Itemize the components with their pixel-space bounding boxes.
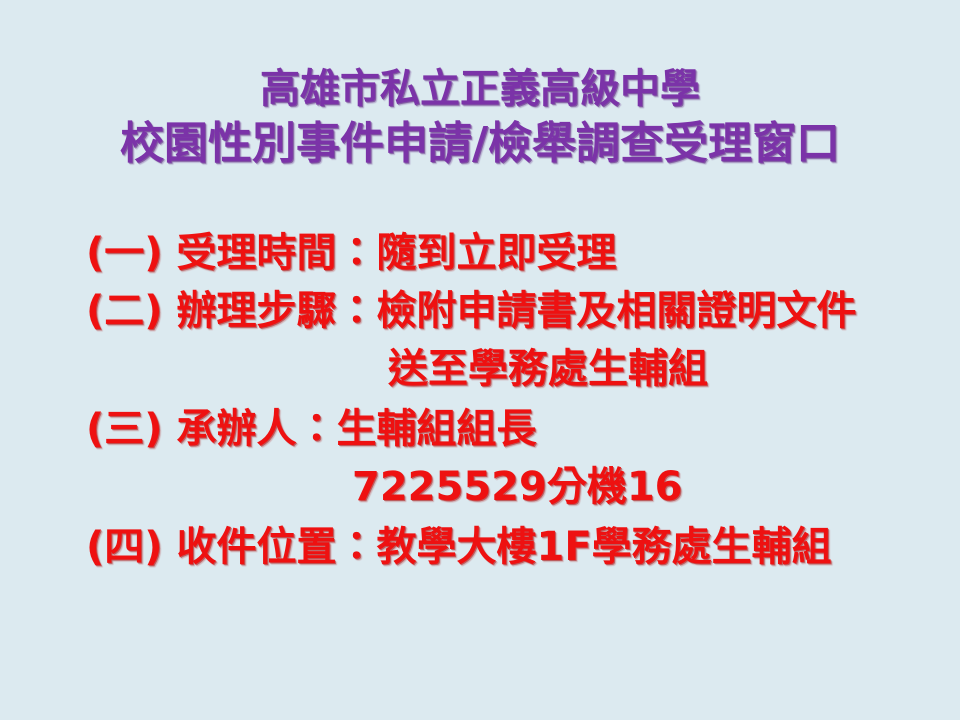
list-item-3-continuation-phone: 7225529分機16	[0, 458, 960, 516]
list-item-3: (三) 承辦人：生輔組組長	[0, 400, 960, 458]
body-block: (一) 受理時間：隨到立即受理 (二) 辦理步驟：檢附申請書及相關證明文件 送至…	[0, 224, 960, 576]
page-title-line-1: 高雄市私立正義高級中學	[0, 66, 960, 112]
list-item-2-continuation: 送至學務處生輔組	[0, 340, 960, 398]
list-item-1: (一) 受理時間：隨到立即受理	[0, 224, 960, 282]
slide-canvas: 高雄市私立正義高級中學 校園性別事件申請/檢舉調查受理窗口 (一) 受理時間：隨…	[0, 0, 960, 720]
title-block: 高雄市私立正義高級中學 校園性別事件申請/檢舉調查受理窗口	[0, 66, 960, 169]
page-title-line-2: 校園性別事件申請/檢舉調查受理窗口	[0, 118, 960, 169]
list-item-4: (四) 收件位置：教學大樓1F學務處生輔組	[0, 518, 960, 576]
list-item-2: (二) 辦理步驟：檢附申請書及相關證明文件	[0, 282, 960, 340]
